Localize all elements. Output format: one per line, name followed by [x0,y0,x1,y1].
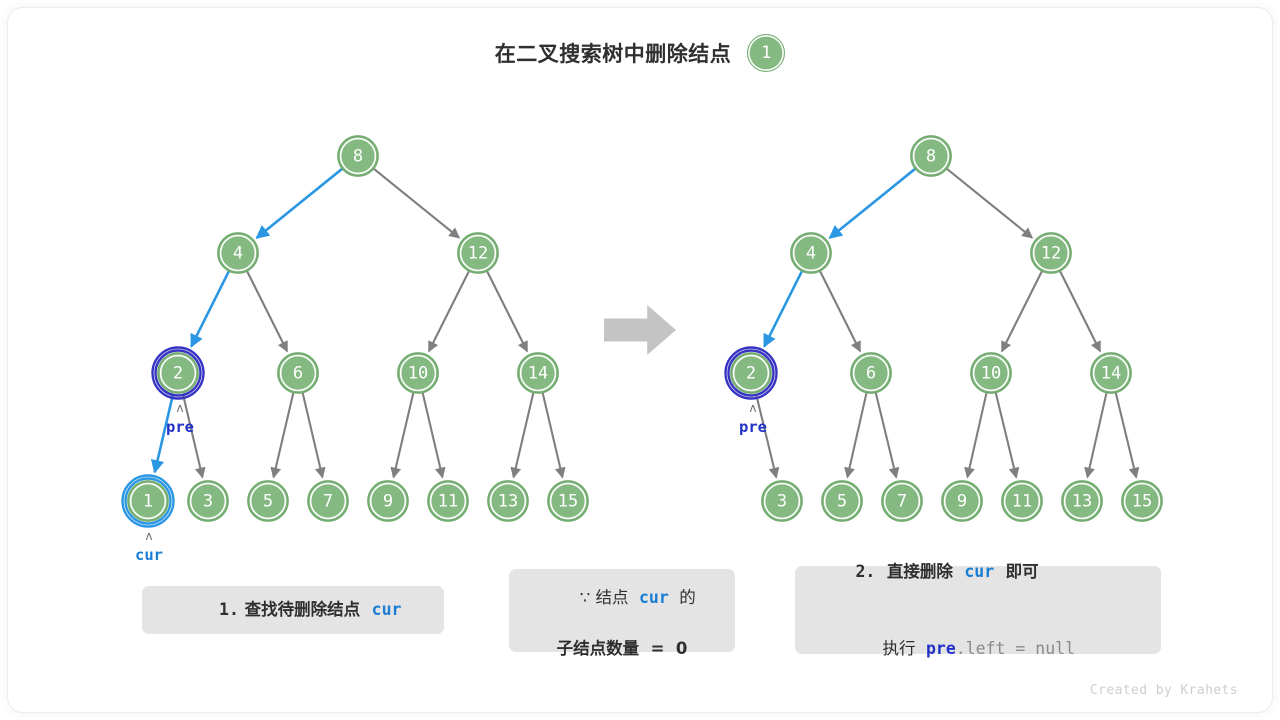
caption-reason-line-2: 子结点数量 = 0 [557,636,688,662]
credit-text: Created by Krahets [1090,683,1238,698]
caption-step-2-line-1: 2. 直接删除 cur 即可 [821,533,1161,610]
diagram-page: 在二叉搜索树中删除结点 1 841226101413579111315 8412… [0,0,1280,720]
caption-step-1: 1. 查找待删除结点 cur [142,586,444,634]
caption-reason: ∵ 结点 cur 的 子结点数量 = 0 [509,569,735,652]
caption-step-2-suffix: 即可 [1006,562,1039,581]
caption-step-1-line: 1. 查找待删除结点 cur [185,572,402,649]
caption-step-2-pre-code: pre [926,639,956,658]
caption-reason-prefix: ∵ 结点 [580,588,629,607]
caption-step-2: 2. 直接删除 cur 即可 执行 pre.left = null [795,566,1161,654]
caption-step-1-text: 查找待删除结点 [245,600,361,619]
caption-step-2-number: 2. [855,562,875,581]
page-title: 在二叉搜索树中删除结点 1 [0,34,1280,72]
caption-step-2-prefix: 直接删除 [887,562,953,581]
caption-step-2-code: cur [964,562,994,581]
caption-step-2-exec-label: 执行 [882,639,915,658]
caption-reason-suffix: 的 [679,588,696,607]
caption-reason-line-1: ∵ 结点 cur 的 [548,559,696,636]
caption-step-2-assignment: .left = null [956,639,1075,658]
caption-step-1-code: cur [372,600,402,619]
caption-step-1-number: 1. [219,600,239,619]
caption-reason-code: cur [639,588,669,607]
caption-step-2-line-2: 执行 pre.left = null [821,610,1161,687]
page-title-text: 在二叉搜索树中删除结点 [495,38,732,68]
step-badge: 1 [747,34,785,72]
